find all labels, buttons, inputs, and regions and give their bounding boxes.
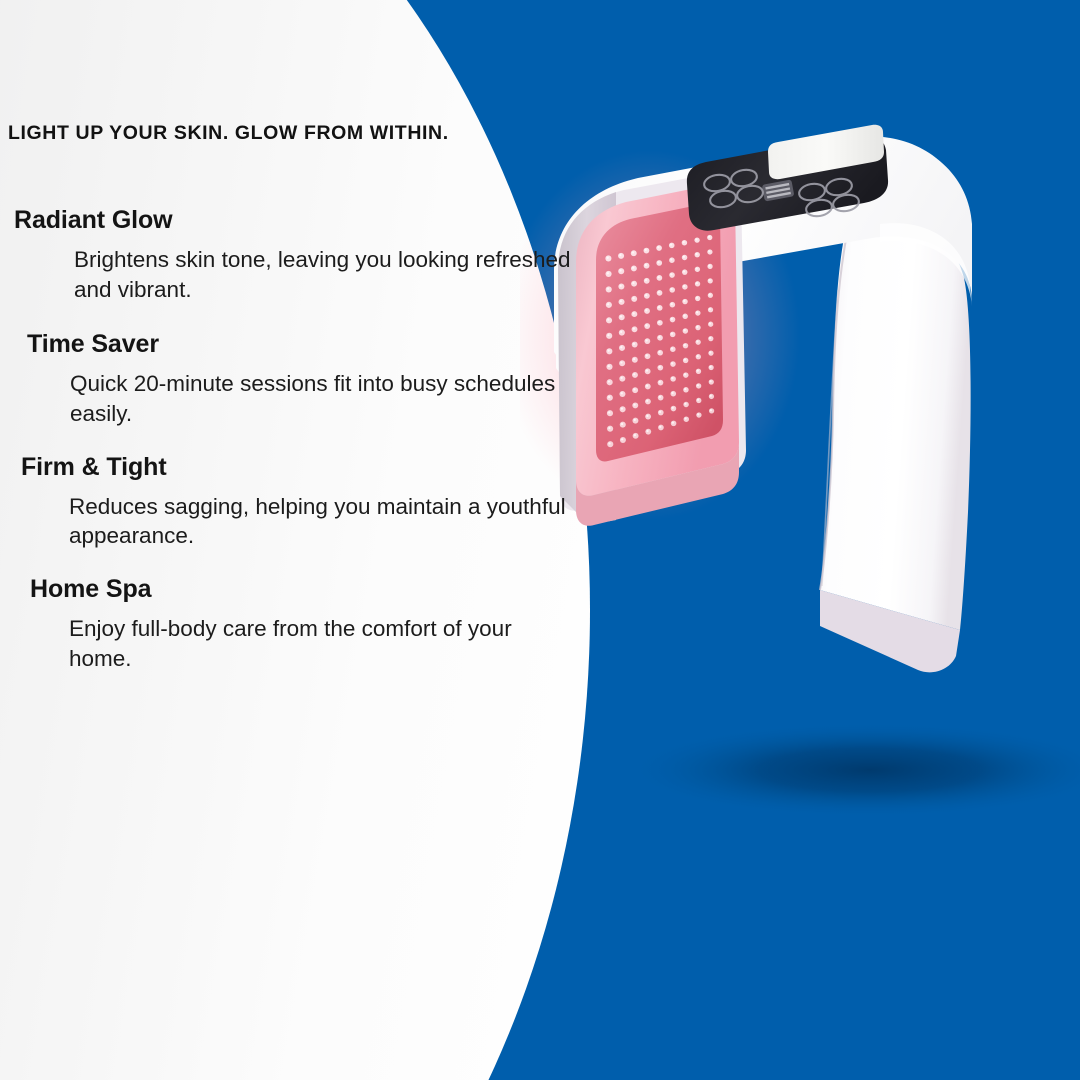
feature-title: Radiant Glow <box>14 206 580 235</box>
feature-description: Reduces sagging, helping you maintain a … <box>69 492 569 551</box>
feature-title: Time Saver <box>27 330 580 359</box>
feature-item: Time Saver Quick 20-minute sessions fit … <box>0 330 580 428</box>
device-right-leg <box>820 211 971 630</box>
feature-title: Home Spa <box>30 575 580 604</box>
product-shadow <box>625 722 1080 818</box>
text-column: LIGHT UP YOUR SKIN. GLOW FROM WITHIN. Ra… <box>0 0 600 1080</box>
feature-description: Quick 20-minute sessions fit into busy s… <box>70 369 570 428</box>
feature-item: Firm & Tight Reduces sagging, helping yo… <box>0 453 580 551</box>
feature-list: Radiant Glow Brightens skin tone, leavin… <box>0 206 580 698</box>
led-board <box>596 203 723 462</box>
poster-canvas: LIGHT UP YOUR SKIN. GLOW FROM WITHIN. Ra… <box>0 0 1080 1080</box>
feature-description: Enjoy full-body care from the comfort of… <box>69 614 569 673</box>
feature-item: Home Spa Enjoy full-body care from the c… <box>0 575 580 673</box>
product-image <box>520 120 1080 860</box>
feature-item: Radiant Glow Brightens skin tone, leavin… <box>0 206 580 304</box>
feature-description: Brightens skin tone, leaving you looking… <box>74 245 574 304</box>
feature-title: Firm & Tight <box>21 453 580 482</box>
page-headline: LIGHT UP YOUR SKIN. GLOW FROM WITHIN. <box>8 122 449 145</box>
